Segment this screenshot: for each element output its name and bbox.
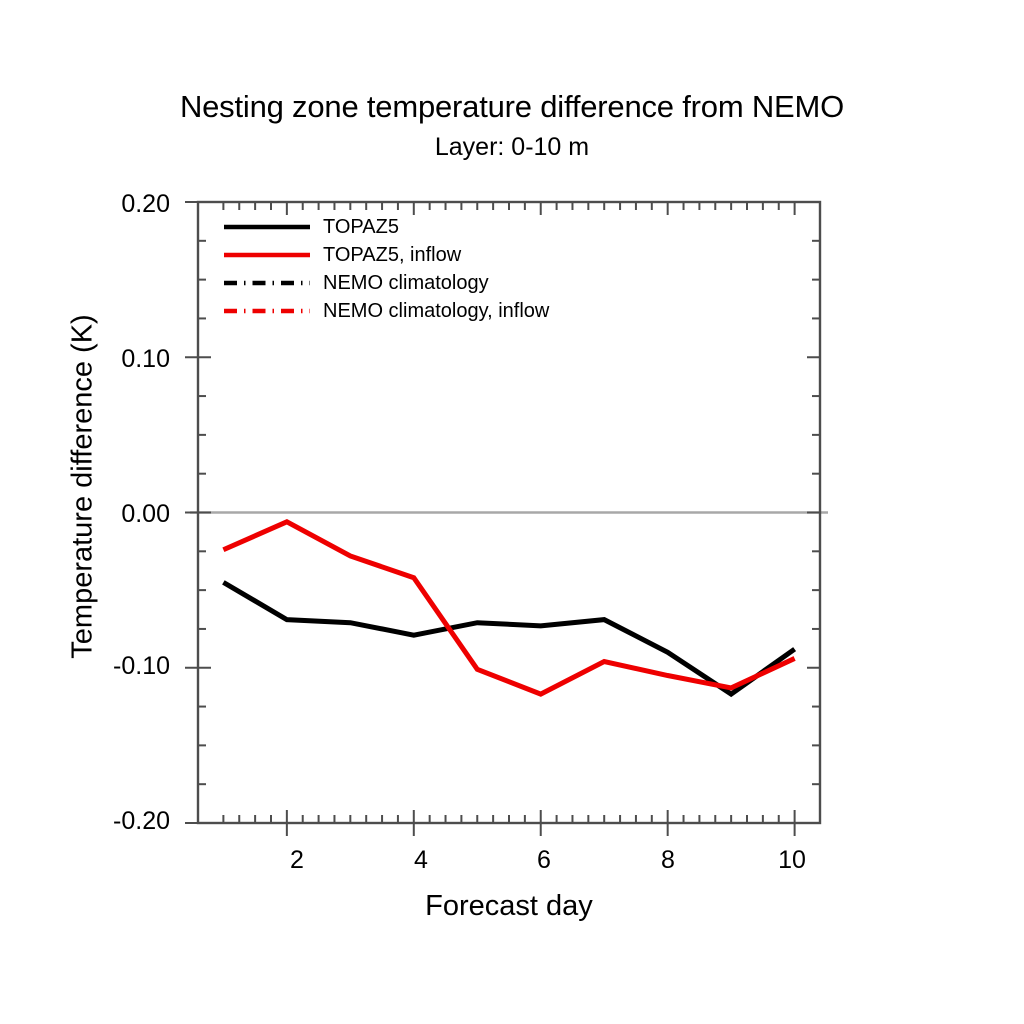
- legend-entry-nemo-climatology-inflow: NEMO climatology, inflow: [222, 297, 642, 325]
- data-series-layer: [223, 522, 794, 694]
- legend-swatch-solid-black: [222, 217, 312, 237]
- chart-figure: Nesting zone temperature difference from…: [0, 0, 1024, 1024]
- legend-swatch-dashed-black: [222, 273, 312, 293]
- legend-label-nemo-climatology: NEMO climatology: [323, 273, 489, 293]
- series-line-0: [223, 582, 794, 694]
- series-line-1: [223, 522, 794, 694]
- plot-canvas: [0, 0, 1024, 1024]
- legend-swatch-solid-red: [222, 245, 312, 265]
- legend-entry-topaz5-inflow: TOPAZ5, inflow: [222, 241, 642, 269]
- legend-label-topaz5: TOPAZ5: [323, 217, 399, 237]
- legend-swatch-dashed-red: [222, 301, 312, 321]
- legend-label-nemo-climatology-inflow: NEMO climatology, inflow: [323, 301, 549, 321]
- chart-legend: TOPAZ5 TOPAZ5, inflow NEMO climatology N…: [222, 213, 642, 325]
- legend-entry-topaz5: TOPAZ5: [222, 213, 642, 241]
- legend-label-topaz5-inflow: TOPAZ5, inflow: [323, 245, 461, 265]
- legend-entry-nemo-climatology: NEMO climatology: [222, 269, 642, 297]
